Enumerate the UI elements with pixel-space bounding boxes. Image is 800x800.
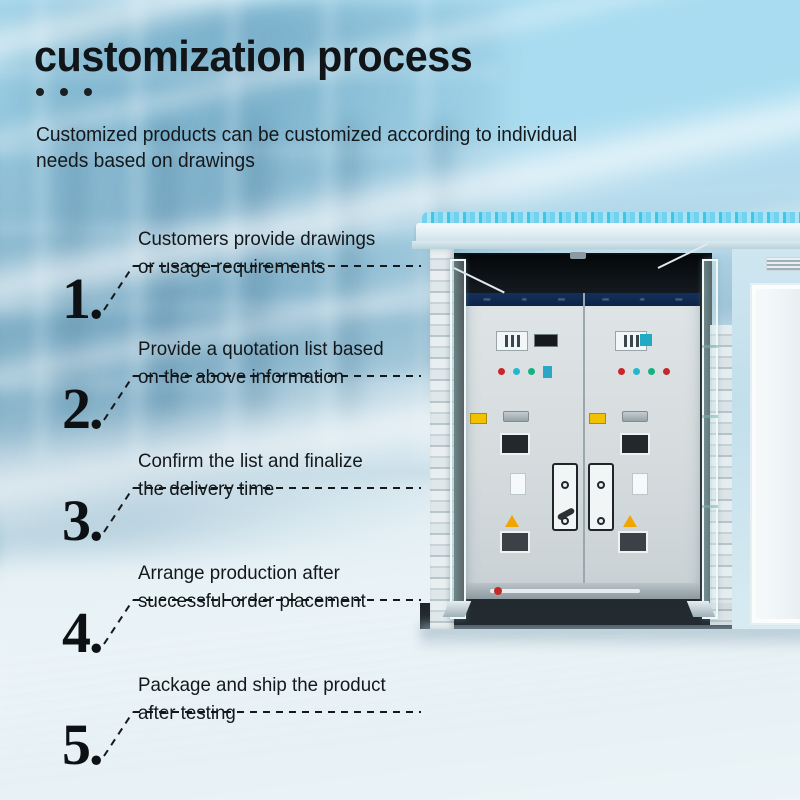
high-voltage-triangle-icon [623, 515, 637, 527]
high-voltage-triangle-icon [505, 515, 519, 527]
step-text: Customers provide drawings or usage requ… [138, 226, 455, 281]
panel-divider [583, 293, 585, 593]
step-line-1: Arrange production after [138, 560, 455, 588]
lamp-green-icon [648, 368, 655, 375]
step-number: 2. [62, 384, 102, 434]
control-knob-icon [561, 481, 569, 489]
cable-port [618, 531, 648, 553]
glass-door-right [702, 259, 718, 619]
lamp-red-icon [498, 368, 505, 375]
control-knob-icon [597, 481, 605, 489]
inspection-window [500, 433, 530, 455]
rail-stop-icon [494, 587, 502, 595]
mimic-diagram-icon [496, 331, 528, 351]
lamp-red-icon [663, 368, 670, 375]
panel-sticker [632, 473, 648, 495]
dot-icon [84, 88, 92, 96]
step-line-2: the delivery time [138, 476, 455, 504]
inspection-window [620, 433, 650, 455]
panel-rail [490, 589, 640, 593]
dot-icon [60, 88, 68, 96]
enclosure-white-door [750, 283, 800, 625]
step-line-1: Package and ship the product [138, 672, 455, 700]
lamp-cyan-icon [513, 368, 520, 375]
step-text: Package and ship the product after testi… [138, 672, 455, 727]
step-number: 4. [62, 608, 102, 658]
roof-lip [412, 241, 800, 249]
step-line-1: Customers provide drawings [138, 226, 455, 254]
step-number: 1. [62, 274, 102, 324]
infographic-canvas: ▪▪▪▪▪▪▪▪ ▪▪▪▪▪▪▪▪ [0, 0, 800, 800]
page-title: customization process [34, 32, 472, 82]
vent-slot [503, 411, 529, 422]
process-step-2: 2. Provide a quotation list based on the… [0, 328, 470, 434]
step-text: Provide a quotation list based on the ab… [138, 336, 455, 391]
step-number: 5. [62, 720, 102, 770]
process-step-1: 1. Customers provide drawings or usage r… [0, 218, 470, 324]
control-knob-icon [597, 517, 605, 525]
indicator-lamp-row [618, 368, 670, 375]
cable-port [500, 531, 530, 553]
lamp-red-icon [618, 368, 625, 375]
process-step-5: 5. Package and ship the product after te… [0, 664, 470, 770]
glass-shelf [702, 345, 718, 348]
step-line-2: successful order placement [138, 588, 455, 616]
step-number: 3. [62, 496, 102, 546]
panel-label-right: ▪▪▪▪▪▪▪▪ [587, 295, 698, 304]
title-dots-decoration [36, 88, 92, 96]
glass-shelf [702, 415, 718, 418]
lamp-cyan-icon [633, 368, 640, 375]
panel-label-left: ▪▪▪▪▪▪▪▪ [468, 295, 581, 304]
step-text: Confirm the list and finalize the delive… [138, 448, 455, 503]
panel-sticker [510, 473, 526, 495]
step-line-2: after testing [138, 700, 455, 728]
cabinet-latch-icon [570, 252, 586, 259]
process-step-3: 3. Confirm the list and finalize the del… [0, 440, 470, 546]
step-line-1: Provide a quotation list based [138, 336, 455, 364]
enclosure-vent-icon [766, 257, 800, 271]
vent-slot [622, 411, 648, 422]
warning-label-icon [470, 413, 487, 424]
step-line-2: or usage requirements [138, 254, 455, 282]
dot-icon [36, 88, 44, 96]
step-line-1: Confirm the list and finalize [138, 448, 455, 476]
warning-label-icon [589, 413, 606, 424]
page-subtitle: Customized products can be customized ac… [36, 123, 593, 174]
lamp-square-icon [543, 366, 552, 378]
process-step-4: 4. Arrange production after successful o… [0, 552, 470, 658]
step-line-2: on the above information [138, 364, 455, 392]
indicator-chip-icon [640, 334, 652, 346]
step-text: Arrange production after successful orde… [138, 560, 455, 615]
glass-shelf [702, 505, 718, 508]
digital-meter-icon [534, 334, 558, 347]
lamp-green-icon [528, 368, 535, 375]
